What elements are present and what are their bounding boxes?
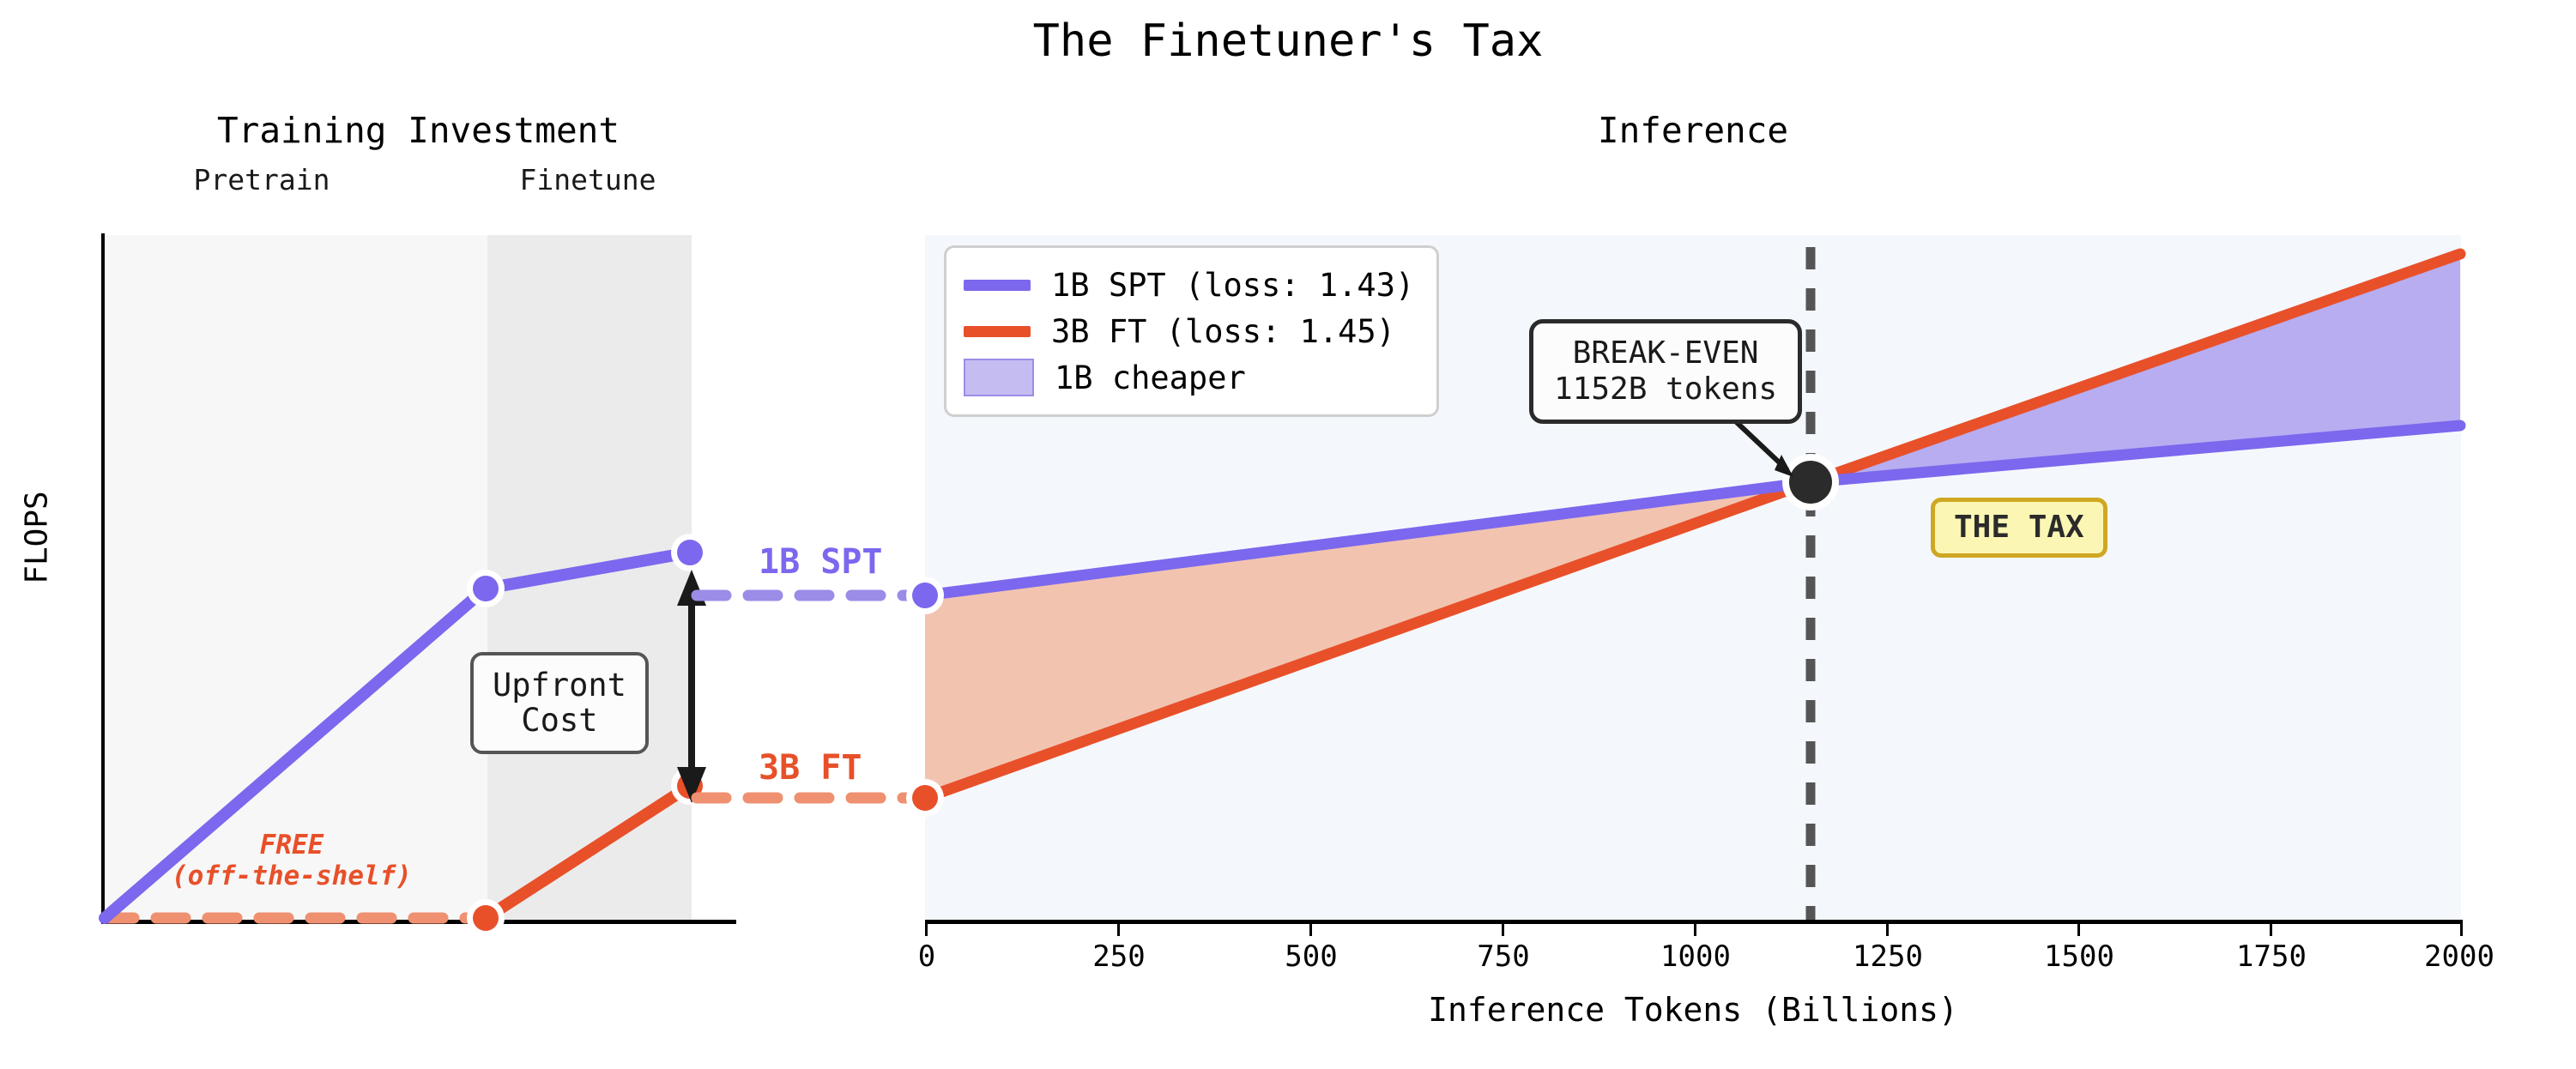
- breakeven-line-1: BREAK-EVEN: [1573, 335, 1759, 371]
- xtick-label-1500: 1500: [2011, 939, 2148, 974]
- series-tag-3b-ft: 3B FT: [759, 748, 862, 788]
- right-panel-title: Inference: [925, 110, 2461, 151]
- legend-swatch-1b-spt: [964, 280, 1031, 291]
- figure-title: The Finetuner's Tax: [0, 15, 2576, 67]
- xtick-label-1000: 1000: [1627, 939, 1764, 974]
- xtick-mark-250: [1117, 924, 1120, 936]
- xtick-label-250: 250: [1050, 939, 1188, 974]
- free-off-the-shelf-note: FREE (off-the-shelf): [163, 830, 420, 891]
- zone-shading-pretrain: [103, 235, 487, 921]
- left-panel-title: Training Investment: [103, 110, 734, 151]
- legend-swatch-1b-cheaper: [964, 359, 1034, 396]
- series-tag-1b-spt: 1B SPT: [759, 542, 883, 582]
- zone-shading-finetune: [487, 235, 692, 921]
- xtick-mark-750: [1502, 924, 1504, 936]
- zone-label-pretrain: Pretrain: [154, 163, 369, 196]
- breakeven-annotation: BREAK-EVEN1152B tokens: [1529, 319, 1802, 424]
- xtick-label-1250: 1250: [1819, 939, 1956, 974]
- xtick-label-1750: 1750: [2203, 939, 2340, 974]
- xtick-mark-2000: [2460, 924, 2463, 936]
- x-axis-label: Inference Tokens (Billions): [925, 991, 2461, 1029]
- the-tax-badge: THE TAX: [1931, 498, 2107, 558]
- xtick-mark-1750: [2270, 924, 2272, 936]
- xtick-label-500: 500: [1243, 939, 1380, 974]
- xtick-mark-1500: [2077, 924, 2080, 936]
- training-investment-plot-area: [103, 235, 735, 921]
- xtick-mark-1000: [1694, 924, 1696, 936]
- legend-swatch-3b-ft: [964, 326, 1031, 337]
- chart-legend[interactable]: 1B SPT (loss: 1.43) 3B FT (loss: 1.45) 1…: [944, 245, 1439, 417]
- left-y-axis-spine: [101, 233, 105, 923]
- zone-label-finetune: Finetune: [481, 163, 695, 196]
- xtick-label-750: 750: [1435, 939, 1572, 974]
- legend-label-3b-ft: 3B FT (loss: 1.45): [1051, 313, 1395, 350]
- figure-canvas: The Finetuner's Tax Training Investment …: [0, 0, 2576, 1069]
- xtick-label-2000: 2000: [2391, 939, 2528, 974]
- y-axis-label: FLOPS: [20, 448, 55, 628]
- legend-label-1b-spt: 1B SPT (loss: 1.43): [1051, 267, 1414, 304]
- left-x-axis-spine: [101, 920, 736, 924]
- legend-label-1b-cheaper: 1B cheaper: [1055, 359, 1246, 396]
- xtick-mark-1250: [1886, 924, 1889, 936]
- legend-item-1b-spt[interactable]: 1B SPT (loss: 1.43): [964, 262, 1414, 308]
- upfront-cost-annotation: Upfront Cost: [470, 652, 649, 754]
- breakeven-line-2: 1152B tokens: [1554, 371, 1777, 407]
- xtick-label-0: 0: [858, 939, 995, 974]
- legend-item-3b-ft[interactable]: 3B FT (loss: 1.45): [964, 308, 1414, 354]
- xtick-mark-500: [1309, 924, 1312, 936]
- xtick-mark-0: [925, 924, 928, 936]
- legend-item-1b-cheaper[interactable]: 1B cheaper: [964, 354, 1414, 401]
